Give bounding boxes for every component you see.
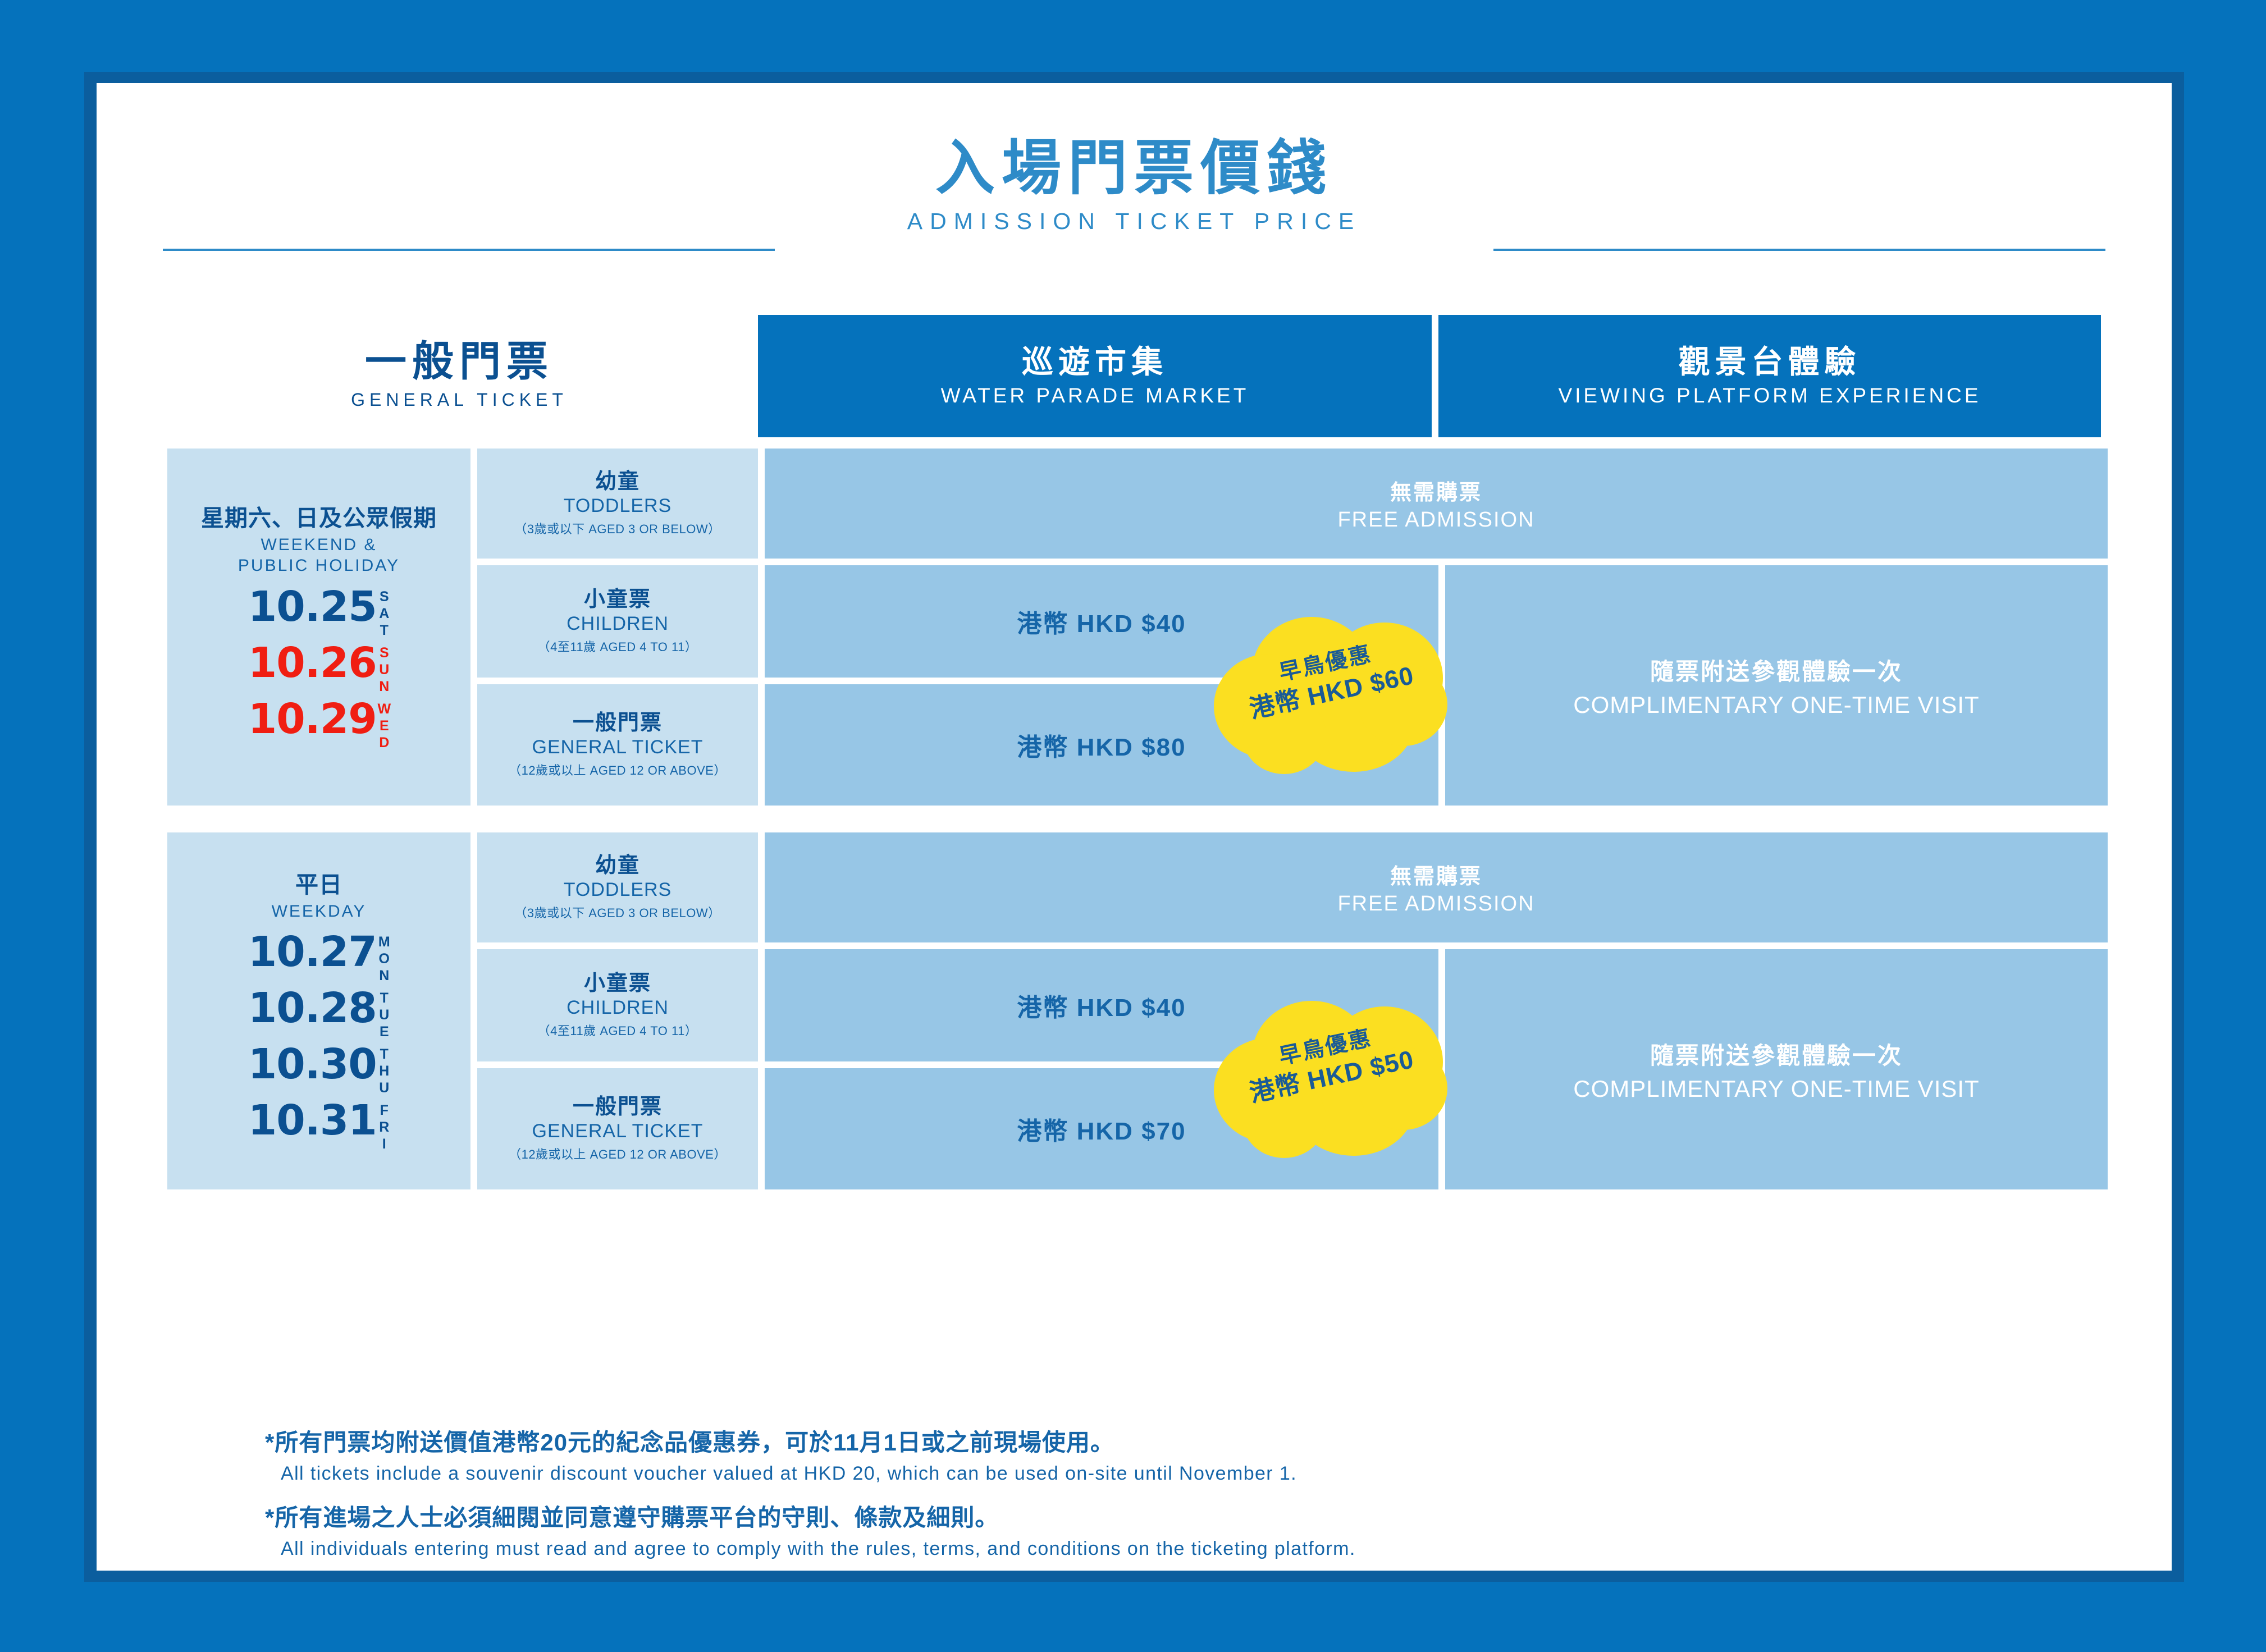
- complimentary-visit-zh: 隨票附送參觀體驗一次: [1650, 653, 1903, 687]
- complimentary-visit-en: COMPLIMENTARY ONE-TIME VISIT: [1573, 692, 1979, 719]
- footnotes: *所有門票均附送價值港幣20元的紀念品優惠券，可於11月1日或之前現場使用。 A…: [265, 1427, 2118, 1578]
- ticket-type-column-weekday: 幼童 TODDLERS （3歲或以下 AGED 3 OR BELOW） 小童票 …: [477, 832, 758, 1189]
- date-weekday: SUN: [378, 645, 390, 695]
- pricing-block-weekend: 星期六、日及公眾假期 WEEKEND & PUBLIC HOLIDAY 10.2…: [167, 449, 2101, 806]
- price-value: 港幣 HKD $70: [1017, 1111, 1186, 1147]
- ticket-type-age: （3歲或以下 AGED 3 OR BELOW）: [514, 903, 720, 921]
- pricing-block-weekday: 平日 WEEKDAY 10.27 MON 10.28 TUE: [167, 832, 2101, 1189]
- price-area-weekday: 無需購票 FREE ADMISSION 港幣 HKD $40: [765, 832, 2108, 1189]
- date-head-en: WEEKDAY: [272, 901, 367, 922]
- date-entry: 10.25 SAT: [248, 587, 390, 639]
- gutter: [758, 449, 765, 806]
- price-value: 港幣 HKD $40: [1017, 987, 1186, 1023]
- free-admission-cell-weekend: 無需購票 FREE ADMISSION: [765, 449, 2108, 559]
- footnote-zh: *所有進場之人士必須細閱並同意遵守購票平台的守則、條款及細則。: [265, 1503, 2118, 1533]
- column-header-zh: 觀景台體驗: [1679, 345, 1861, 380]
- gutter: [477, 942, 758, 949]
- ticket-type-cell-general: 一般門票 GENERAL TICKET （12歲或以上 AGED 12 OR A…: [477, 1068, 758, 1189]
- ticket-type-column-weekend: 幼童 TODDLERS （3歲或以下 AGED 3 OR BELOW） 小童票 …: [477, 449, 758, 806]
- ticket-type-age: （3歲或以下 AGED 3 OR BELOW）: [514, 519, 720, 537]
- free-admission-zh: 無需購票: [1390, 859, 1482, 890]
- footnote-en: All individuals entering must read and a…: [281, 1536, 2118, 1561]
- date-number: 10.30: [248, 1044, 377, 1085]
- ticket-type-cell-toddlers: 幼童 TODDLERS （3歲或以下 AGED 3 OR BELOW）: [477, 449, 758, 559]
- ticket-type-en: GENERAL TICKET: [532, 1120, 703, 1142]
- date-entry: 10.31 FRI: [248, 1100, 390, 1153]
- date-entry: 10.29 WED: [248, 699, 390, 752]
- date-head-en-line2: PUBLIC HOLIDAY: [238, 556, 400, 576]
- date-number: 10.31: [248, 1100, 377, 1141]
- complimentary-visit-zh: 隨票附送參觀體驗一次: [1650, 1037, 1903, 1071]
- gutter: [765, 942, 2108, 949]
- gutter: [765, 559, 2108, 565]
- early-bird-badge-weekday[interactable]: 早鳥優惠 港幣 HKD $50: [1208, 1001, 1450, 1158]
- title-rule-right: [1493, 249, 2105, 251]
- ticket-type-age: （4至11歲 AGED 4 TO 11）: [538, 1021, 698, 1039]
- price-table: 一般門票 GENERAL TICKET 巡遊市集 WATER PARADE MA…: [167, 315, 2101, 1189]
- ticket-type-en: GENERAL TICKET: [532, 736, 703, 758]
- ticket-type-cell-general: 一般門票 GENERAL TICKET （12歲或以上 AGED 12 OR A…: [477, 684, 758, 806]
- ticket-type-age: （12歲或以上 AGED 12 OR ABOVE）: [509, 1145, 727, 1163]
- ticket-type-zh: 一般門票: [573, 711, 663, 736]
- page-title-zh: 入場門票價錢: [97, 136, 2172, 200]
- date-list: 10.25 SAT 10.26 SUN 10.29 WED: [248, 587, 390, 755]
- date-head-zh: 星期六、日及公眾假期: [201, 499, 437, 533]
- date-weekday: FRI: [378, 1102, 390, 1153]
- free-admission-cell-weekday: 無需購票 FREE ADMISSION: [765, 832, 2108, 942]
- free-admission-zh: 無需購票: [1390, 475, 1482, 506]
- poster-frame: 入場門票價錢 ADMISSION TICKET PRICE 一般門票 GENER…: [0, 0, 2266, 1652]
- gutter: [1432, 315, 1438, 437]
- column-header-en: WATER PARADE MARKET: [941, 384, 1249, 408]
- ticket-type-zh: 小童票: [584, 588, 651, 612]
- gutter: [477, 559, 758, 565]
- gutter: [470, 832, 477, 1189]
- ticket-type-age: （12歲或以上 AGED 12 OR ABOVE）: [509, 761, 727, 779]
- ticket-type-zh: 幼童: [595, 854, 640, 878]
- ticket-type-age: （4至11歲 AGED 4 TO 11）: [538, 637, 698, 655]
- gutter: [751, 315, 758, 437]
- general-ticket-label-en: GENERAL TICKET: [351, 390, 568, 410]
- ticket-type-cell-children: 小童票 CHILDREN （4至11歲 AGED 4 TO 11）: [477, 949, 758, 1061]
- date-weekday: WED: [378, 701, 390, 752]
- date-weekday: SAT: [378, 589, 390, 639]
- date-number: 10.28: [248, 988, 377, 1029]
- gutter: [477, 1061, 758, 1068]
- date-number: 10.26: [248, 643, 377, 684]
- ticket-type-zh: 一般門票: [573, 1095, 663, 1120]
- date-number: 10.25: [248, 587, 377, 628]
- price-value: 港幣 HKD $80: [1017, 727, 1186, 763]
- free-admission-en: FREE ADMISSION: [1337, 892, 1534, 916]
- complimentary-visit-cell-weekend: 隨票附送參觀體驗一次 COMPLIMENTARY ONE-TIME VISIT: [1445, 565, 2108, 806]
- ticket-type-cell-toddlers: 幼童 TODDLERS （3歲或以下 AGED 3 OR BELOW）: [477, 832, 758, 942]
- column-header-water-parade-market: 巡遊市集 WATER PARADE MARKET: [758, 315, 1432, 437]
- date-number: 10.29: [248, 699, 377, 740]
- date-head-en-line1: WEEKDAY: [272, 901, 367, 922]
- column-header-viewing-platform-experience: 觀景台體驗 VIEWING PLATFORM EXPERIENCE: [1438, 315, 2101, 437]
- date-entry: 10.26 SUN: [248, 643, 390, 695]
- gutter: [477, 678, 758, 684]
- date-weekday: THU: [378, 1046, 390, 1097]
- price-area-weekend: 無需購票 FREE ADMISSION 港幣 HKD $40: [765, 449, 2108, 806]
- date-weekday: MON: [378, 934, 390, 985]
- date-head-en: WEEKEND & PUBLIC HOLIDAY: [238, 535, 400, 576]
- ticket-type-zh: 小童票: [584, 972, 651, 996]
- early-bird-badge-weekend[interactable]: 早鳥優惠 港幣 HKD $60: [1208, 617, 1450, 774]
- date-entry: 10.28 TUE: [248, 988, 390, 1041]
- date-head-zh: 平日: [295, 866, 342, 899]
- footnote-zh: *所有門票均附送價值港幣20元的紀念品優惠券，可於11月1日或之前現場使用。: [265, 1427, 2118, 1458]
- column-header-zh: 巡遊市集: [1022, 345, 1168, 380]
- date-weekday: TUE: [378, 990, 390, 1041]
- ticket-type-zh: 幼童: [595, 470, 640, 495]
- ticket-type-en: TODDLERS: [564, 495, 672, 517]
- complimentary-visit-en: COMPLIMENTARY ONE-TIME VISIT: [1573, 1076, 1979, 1102]
- column-header-en: VIEWING PLATFORM EXPERIENCE: [1558, 384, 1981, 408]
- ticket-type-en: CHILDREN: [566, 997, 669, 1019]
- gutter: [758, 832, 765, 1189]
- general-ticket-label: 一般門票 GENERAL TICKET: [167, 315, 751, 437]
- footnote-en: All tickets include a souvenir discount …: [281, 1461, 2118, 1486]
- footnote-item: *所有門票均附送價值港幣20元的紀念品優惠券，可於11月1日或之前現場使用。 A…: [265, 1427, 2118, 1486]
- general-ticket-label-zh: 一般門票: [365, 338, 554, 384]
- date-list: 10.27 MON 10.28 TUE 10.30 THU: [248, 932, 390, 1156]
- table-header-row: 一般門票 GENERAL TICKET 巡遊市集 WATER PARADE MA…: [167, 315, 2101, 437]
- page-title-en: ADMISSION TICKET PRICE: [97, 208, 2172, 235]
- title-block: 入場門票價錢 ADMISSION TICKET PRICE: [97, 136, 2172, 235]
- title-rule-left: [163, 249, 775, 251]
- date-entry: 10.27 MON: [248, 932, 390, 985]
- gutter: [470, 449, 477, 806]
- date-cell-weekday: 平日 WEEKDAY 10.27 MON 10.28 TUE: [167, 832, 470, 1189]
- free-admission-en: FREE ADMISSION: [1337, 508, 1534, 532]
- date-head-en-line1: WEEKEND &: [238, 535, 400, 556]
- footnote-item: *所有進場之人士必須細閱並同意遵守購票平台的守則、條款及細則。 All indi…: [265, 1503, 2118, 1561]
- poster-card: 入場門票價錢 ADMISSION TICKET PRICE 一般門票 GENER…: [97, 83, 2172, 1571]
- date-cell-weekend: 星期六、日及公眾假期 WEEKEND & PUBLIC HOLIDAY 10.2…: [167, 449, 470, 806]
- ticket-type-en: CHILDREN: [566, 613, 669, 635]
- complimentary-visit-cell-weekday: 隨票附送參觀體驗一次 COMPLIMENTARY ONE-TIME VISIT: [1445, 949, 2108, 1189]
- ticket-type-en: TODDLERS: [564, 879, 672, 901]
- ticket-type-cell-children: 小童票 CHILDREN （4至11歲 AGED 4 TO 11）: [477, 565, 758, 678]
- price-value: 港幣 HKD $40: [1017, 603, 1186, 639]
- date-number: 10.27: [248, 932, 377, 973]
- date-entry: 10.30 THU: [248, 1044, 390, 1097]
